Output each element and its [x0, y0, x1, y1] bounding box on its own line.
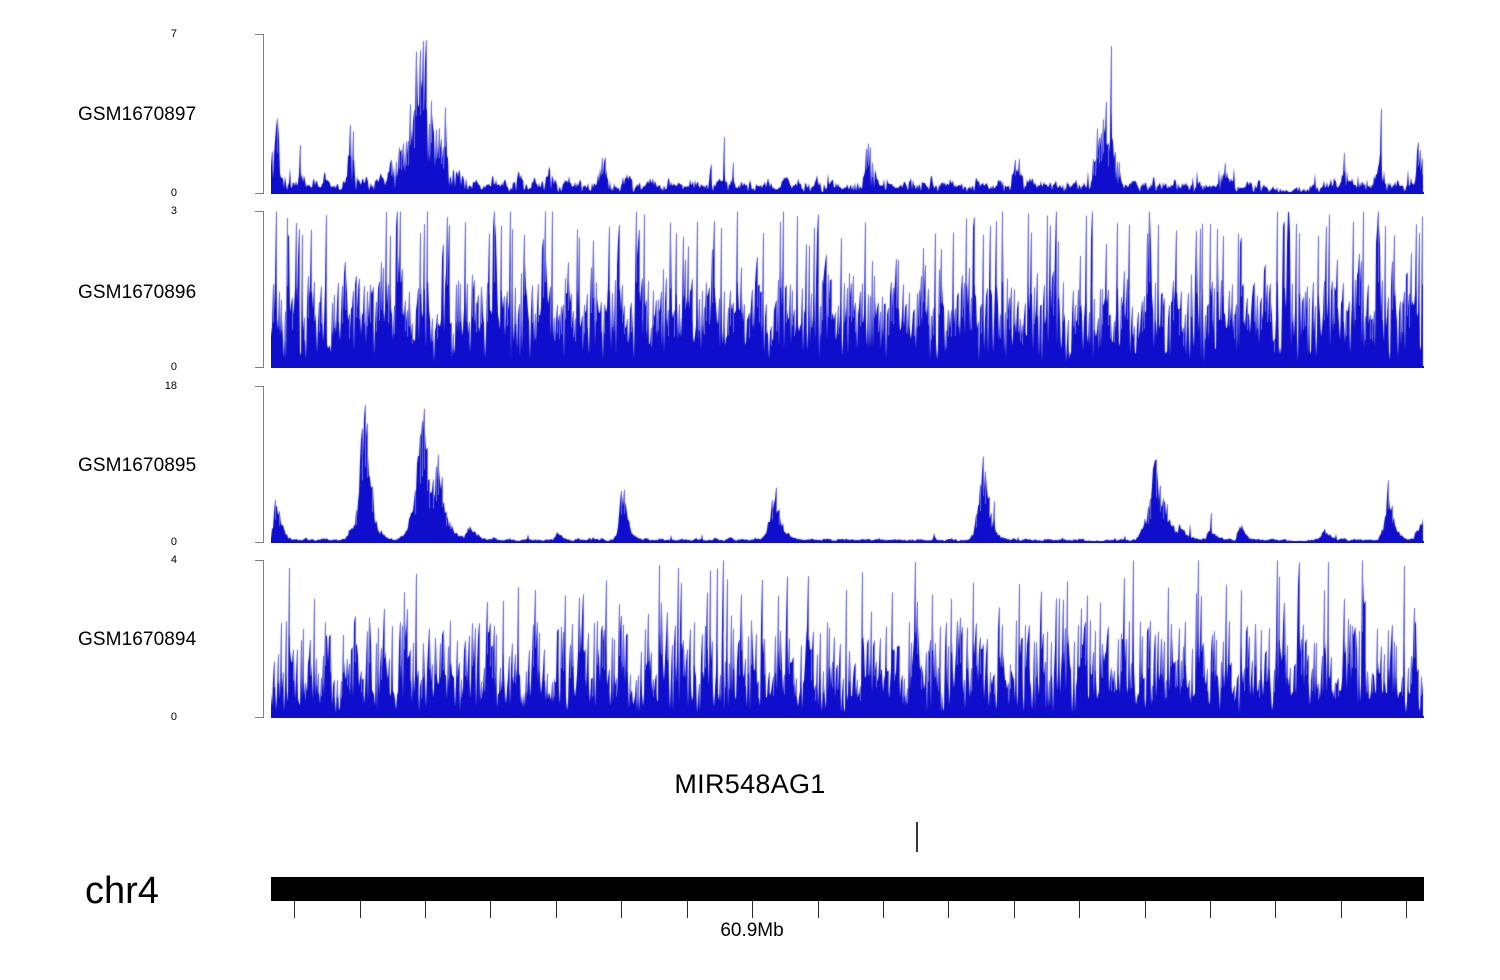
ideogram-tick — [1014, 901, 1015, 918]
coverage-signal — [271, 211, 1424, 368]
track-sample-label: GSM1670894 — [78, 630, 196, 649]
ideogram-tick — [1079, 901, 1080, 918]
coverage-signal — [271, 34, 1424, 194]
gene-position-mark[interactable] — [916, 822, 918, 852]
ideogram-tick — [1210, 901, 1211, 918]
chromosome-name-label: chr4 — [85, 870, 159, 912]
ideogram-tick — [621, 901, 622, 918]
chromosome-ideogram: chr4 60.9Mb — [0, 866, 1500, 976]
track-plot-area[interactable]: 30 — [271, 211, 1424, 368]
y-axis-tick — [255, 542, 264, 543]
y-axis-spine — [263, 34, 264, 194]
ideogram-tick — [1341, 901, 1342, 918]
ideogram-tick — [948, 901, 949, 918]
track-sample-label: GSM1670896 — [78, 283, 196, 302]
y-axis-spine — [263, 211, 264, 368]
ideogram-tick — [360, 901, 361, 918]
ideogram-tick — [687, 901, 688, 918]
ideogram-tick — [556, 901, 557, 918]
ideogram-coordinate-label: 60.9Mb — [720, 920, 783, 942]
y-axis-tick — [255, 34, 264, 35]
ideogram-tick — [490, 901, 491, 918]
y-axis-tick — [255, 717, 264, 718]
ideogram-tick — [752, 901, 753, 918]
y-axis-tick — [255, 386, 264, 387]
y-axis-tick — [255, 367, 264, 368]
gene-annotation-band: MIR548AG1 — [0, 768, 1500, 863]
ideogram-tick — [883, 901, 884, 918]
track-plot-area[interactable]: 70 — [271, 34, 1424, 194]
y-axis-max-label: 18 — [165, 381, 177, 392]
ideogram-tick — [1275, 901, 1276, 918]
track-plot-area[interactable]: 40 — [271, 560, 1424, 718]
ideogram-tick — [818, 901, 819, 918]
y-axis-max-label: 4 — [171, 555, 177, 566]
ideogram-tick — [1145, 901, 1146, 918]
ideogram-tick — [425, 901, 426, 918]
coverage-signal — [271, 560, 1424, 718]
ideogram-tick — [294, 901, 295, 918]
track-sample-label: GSM1670897 — [78, 105, 196, 124]
y-axis-min-label: 0 — [171, 537, 177, 548]
ideogram-bar[interactable] — [271, 877, 1424, 901]
y-axis-min-label: 0 — [171, 362, 177, 373]
y-axis-min-label: 0 — [171, 188, 177, 199]
y-axis-tick — [255, 193, 264, 194]
ideogram-tick — [1406, 901, 1407, 918]
y-axis-tick — [255, 560, 264, 561]
y-axis-spine — [263, 560, 264, 718]
genome-browser-view: GSM167089770GSM167089630GSM1670895180GSM… — [0, 0, 1500, 980]
y-axis-max-label: 3 — [171, 206, 177, 217]
y-axis-max-label: 7 — [171, 29, 177, 40]
y-axis-spine — [263, 386, 264, 543]
track-plot-area[interactable]: 180 — [271, 386, 1424, 543]
y-axis-min-label: 0 — [171, 712, 177, 723]
track-sample-label: GSM1670895 — [78, 456, 196, 475]
coverage-signal — [271, 386, 1424, 543]
gene-name-label: MIR548AG1 — [0, 768, 1500, 800]
y-axis-tick — [255, 211, 264, 212]
